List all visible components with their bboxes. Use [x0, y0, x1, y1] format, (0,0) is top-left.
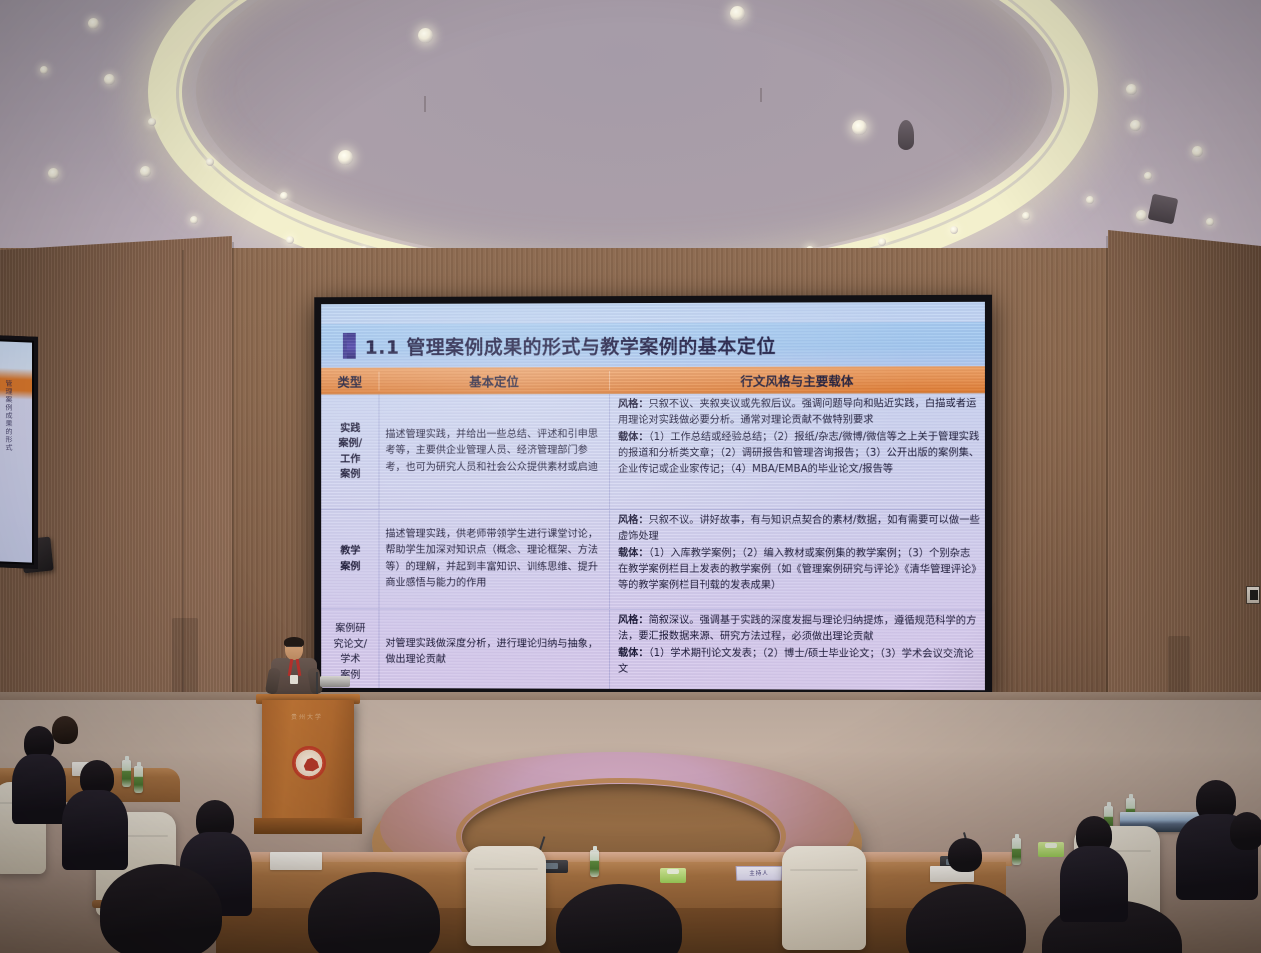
downlight	[338, 150, 353, 165]
downlight	[1136, 210, 1147, 221]
title-accent-bar-icon	[347, 333, 356, 359]
downlight	[1022, 212, 1030, 220]
table-row: 案例研 究论文/ 学术 案例 对管理实践做深度分析，进行理论归纳与抽象，做出理论…	[321, 609, 985, 690]
audience-person-body	[62, 790, 128, 870]
id-badge	[290, 675, 298, 684]
row-type-cell: 教学 案例	[321, 510, 378, 609]
tissue-box	[660, 868, 686, 883]
table-row: 实践 案例/ 工作 案例 描述管理实践，并给出一些总结、评述和引申思考等，主要供…	[321, 393, 985, 510]
podium-mic-stem	[316, 672, 318, 696]
style-label: 风格：	[618, 615, 649, 626]
style-body: 只叙不议。讲好故事，有与知识点契合的素材/数据，如有需要可以做一些虚饰处理	[618, 515, 980, 542]
downlight	[878, 238, 886, 246]
side-display-content: 管理案例成果的形式	[0, 341, 32, 562]
water-bottle	[590, 850, 599, 877]
downlight	[950, 226, 958, 234]
downlight	[1144, 172, 1152, 180]
slide-table: 类型 基本定位 行文风格与主要载体 实践 案例/ 工作 案例 描述管理实践，并给…	[321, 366, 985, 690]
downlight	[286, 236, 294, 244]
carrier-paragraph: 载体：（1）入库教学案例；（2）编入教材或案例集的教学案例；（3）个别杂志在教学…	[618, 546, 980, 596]
row-style-cell: 风格：简叙深议。强调基于实践的深度发掘与理论归纳提炼，遵循规范科学的方法，要汇报…	[609, 610, 985, 690]
ceiling	[0, 0, 1261, 258]
row-positioning-cell: 描述管理实践，供老师带领学生进行课堂讨论，帮助学生加深对知识点（概念、理论框架、…	[378, 510, 609, 609]
downlight	[418, 28, 433, 43]
downlight	[1130, 120, 1141, 131]
style-body: 只叙不议、夹叙夹议或先叙后议。强调问题导向和贴近实践，白描或者运用理论对实践做必…	[618, 398, 976, 426]
row-positioning-cell: 描述管理实践，并给出一些总结、评述和引申思考等，主要供企业管理人员、经济管理部门…	[378, 394, 609, 509]
downlight	[852, 120, 867, 135]
side-display-screen: 管理案例成果的形式	[0, 335, 38, 569]
carrier-label: 载体：	[618, 432, 649, 443]
sprinkler-rod	[424, 96, 426, 112]
carrier-paragraph: 载体：（1）工作总结或经验总结；（2）报纸/杂志/微博/微信等之上关于管理实践的…	[618, 429, 980, 478]
style-label: 风格：	[618, 399, 649, 410]
slide-surface: 1.1 管理案例成果的形式与教学案例的基本定位 类型 基本定位 行文风格与主要载…	[321, 302, 985, 690]
carrier-body: （1）入库教学案例；（2）编入教材或案例集的教学案例；（3）个别杂志在教学案例栏…	[618, 548, 976, 592]
style-paragraph: 风格：只叙不议。讲好故事，有与知识点契合的素材/数据，如有需要可以做一些虚饰处理	[618, 513, 980, 546]
downlight	[280, 192, 288, 200]
downlight	[148, 118, 156, 126]
audience-person-head	[52, 716, 78, 744]
carrier-label: 载体：	[618, 548, 649, 559]
downlight	[206, 158, 214, 166]
downlight	[190, 216, 198, 224]
table-header-row: 类型 基本定位 行文风格与主要载体	[321, 366, 985, 394]
carrier-label: 载体：	[618, 648, 649, 659]
carrier-body: （1）工作总结或经验总结；（2）报纸/杂志/微博/微信等之上关于管理实践的报道和…	[618, 431, 979, 475]
tissue-box	[1038, 842, 1064, 857]
carrier-body: （1）学术期刊论文发表；（2）博士/硕士毕业论文；（3）学术会议交流论文	[618, 648, 974, 675]
downlight	[40, 66, 48, 74]
side-display-text: 管理案例成果的形式	[2, 379, 15, 451]
wall-recess	[172, 618, 198, 700]
downlight	[104, 74, 115, 85]
downlight	[1206, 218, 1214, 226]
main-presentation-screen: 1.1 管理案例成果的形式与教学案例的基本定位 类型 基本定位 行文风格与主要载…	[314, 295, 992, 698]
downlight	[1086, 196, 1094, 204]
downlight	[730, 6, 745, 21]
carrier-paragraph: 载体：（1）学术期刊论文发表；（2）博士/硕士毕业论文；（3）学术会议交流论文	[618, 646, 980, 680]
ceiling-speaker	[898, 120, 914, 150]
water-bottle	[1012, 838, 1021, 865]
audience-person-body	[1060, 846, 1128, 922]
style-body: 简叙深议。强调基于实践的深度发掘与理论归纳提炼，遵循规范科学的方法，要汇报数据来…	[618, 615, 976, 643]
column-header-positioning: 基本定位	[378, 371, 609, 390]
conference-chair	[466, 846, 546, 946]
style-paragraph: 风格：简叙深议。强调基于实践的深度发掘与理论归纳提炼，遵循规范科学的方法，要汇报…	[618, 613, 980, 647]
row-style-cell: 风格：只叙不议。讲好故事，有与知识点契合的素材/数据，如有需要可以做一些虚饰处理…	[609, 510, 985, 610]
water-bottle	[134, 766, 143, 793]
podium-base	[254, 818, 362, 834]
style-label: 风格：	[618, 515, 649, 526]
slide-title-band: 1.1 管理案例成果的形式与教学案例的基本定位	[321, 322, 985, 368]
audience-person-body	[12, 754, 66, 824]
glasses-icon	[286, 646, 302, 650]
downlight	[48, 168, 59, 179]
wall-seam	[1106, 236, 1108, 696]
conference-chair	[782, 846, 866, 950]
ceiling-speaker	[1148, 194, 1179, 225]
podium-microphone	[320, 676, 350, 687]
slide-title: 1.1 管理案例成果的形式与教学案例的基本定位	[365, 331, 776, 359]
downlight	[1126, 84, 1137, 95]
wall-seam	[232, 242, 234, 702]
name-card: 主持人	[736, 866, 783, 881]
table-row: 教学 案例 描述管理实践，供老师带领学生进行课堂讨论，帮助学生加深对知识点（概念…	[321, 510, 985, 611]
university-crest-icon	[292, 746, 326, 780]
row-style-cell: 风格：只叙不议、夹叙夹议或先叙后议。强调问题导向和贴近实践，白描或者运用理论对实…	[609, 393, 985, 509]
audience-person-head	[100, 864, 222, 953]
water-bottle	[122, 760, 131, 787]
column-header-type: 类型	[321, 371, 378, 390]
column-header-style: 行文风格与主要载体	[609, 370, 985, 390]
downlight	[88, 18, 99, 29]
sprinkler-rod	[760, 88, 762, 102]
row-type-cell: 实践 案例/ 工作 案例	[321, 395, 378, 509]
paper-sheet	[270, 852, 322, 870]
audience-person-head	[1230, 812, 1261, 850]
conference-hall-scene: 管理案例成果的形式 1.1 管理案例成果的形式与教学案例的基本定位 类型 基本定…	[0, 0, 1261, 953]
style-paragraph: 风格：只叙不议、夹叙夹议或先叙后议。强调问题导向和贴近实践，白描或者运用理论对实…	[618, 396, 980, 429]
row-positioning-cell: 对管理实践做深度分析，进行理论归纳与抽象，做出理论贡献	[378, 609, 609, 690]
downlight	[140, 166, 151, 177]
downlight	[1192, 146, 1203, 157]
podium-plaque-text: 贵州大学	[272, 712, 342, 721]
audience-person-head	[948, 838, 982, 872]
wall-control-panel[interactable]	[1246, 586, 1260, 604]
